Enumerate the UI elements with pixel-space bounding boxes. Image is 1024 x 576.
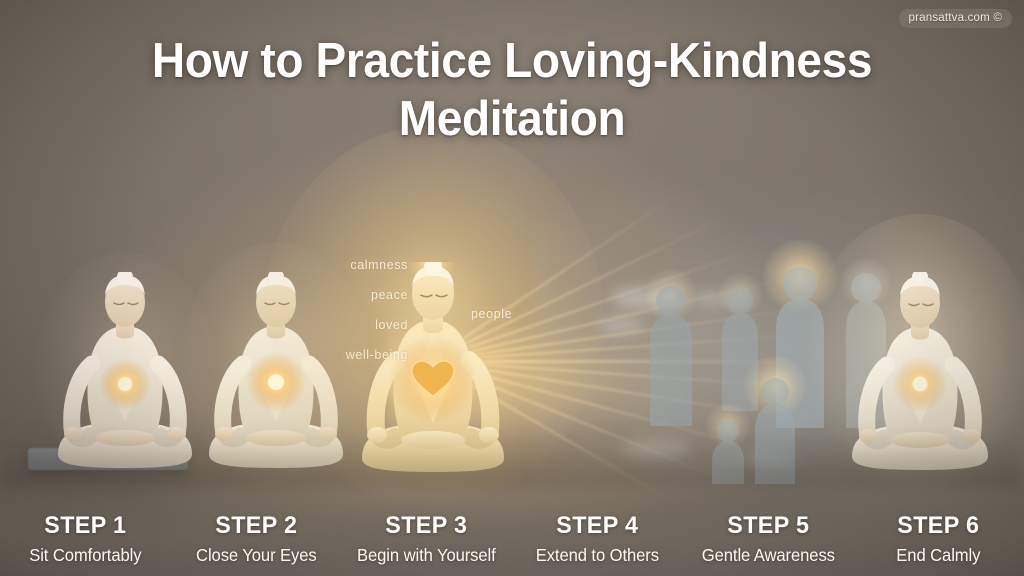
floating-word-well-being: well-being bbox=[300, 348, 408, 362]
poster-root: calmness peace loved well-being people H… bbox=[0, 0, 1024, 576]
step-number-6: STEP 6 bbox=[858, 512, 1020, 540]
step-item-5: STEP 5 Gentle Awareness bbox=[683, 512, 854, 566]
watermark-badge: pransattva.com © bbox=[899, 9, 1013, 28]
step-item-4: STEP 4 Extend to Others bbox=[512, 512, 683, 566]
step-number-2: STEP 2 bbox=[175, 512, 337, 540]
step-item-3: STEP 3 Begin with Yourself bbox=[341, 512, 512, 566]
step-label-2: Close Your Eyes bbox=[175, 545, 337, 566]
title-line-2: Meditation bbox=[31, 90, 994, 148]
floating-word-peace: peace bbox=[300, 288, 408, 302]
page-title: How to Practice Loving-Kindness Meditati… bbox=[31, 32, 994, 149]
step-label-4: Extend to Others bbox=[516, 545, 678, 566]
step-label-3: Begin with Yourself bbox=[346, 545, 508, 566]
step-item-6: STEP 6 End Calmly bbox=[853, 512, 1024, 566]
step-label-5: Gentle Awareness bbox=[687, 545, 849, 566]
step-number-5: STEP 5 bbox=[687, 512, 849, 540]
floating-words-column: calmness peace loved well-being bbox=[300, 258, 408, 378]
step-item-1: STEP 1 Sit Comfortably bbox=[0, 512, 171, 566]
floating-word-loved: loved bbox=[300, 318, 408, 332]
silhouette-person bbox=[640, 281, 702, 426]
step-number-1: STEP 1 bbox=[4, 512, 166, 540]
step-item-2: STEP 2 Close Your Eyes bbox=[171, 512, 342, 566]
steps-row: STEP 1 Sit Comfortably STEP 2 Close Your… bbox=[0, 512, 1024, 566]
step-label-6: End Calmly bbox=[858, 545, 1020, 566]
title-line-1: How to Practice Loving-Kindness bbox=[31, 32, 994, 90]
step-label-1: Sit Comfortably bbox=[4, 545, 166, 566]
floating-word-calmness: calmness bbox=[300, 258, 408, 272]
step-number-4: STEP 4 bbox=[516, 512, 678, 540]
step-number-3: STEP 3 bbox=[346, 512, 508, 540]
floating-word-people: people bbox=[471, 307, 512, 321]
